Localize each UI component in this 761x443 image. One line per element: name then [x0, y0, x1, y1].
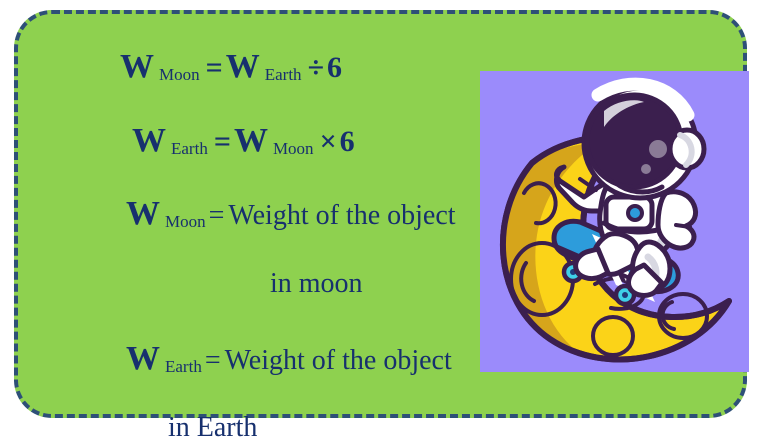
earth-definition-subscript: Earth [160, 357, 205, 376]
figure-canvas: WMoon=WEarth÷6 WEarth=WMoon×6 WMoon= Wei… [0, 0, 761, 435]
earth-formula: WEarth=WMoon×6 [132, 124, 355, 158]
moon-formula-rhs-symbol: W [226, 48, 260, 85]
astronaut-moon-svg [480, 71, 749, 372]
moon-definition-text-line2: in moon [270, 268, 363, 299]
moon-formula-subscript: Moon [154, 65, 203, 84]
astronaut-right-glove-line [676, 225, 690, 227]
earth-definition-text: Weight of the object [225, 345, 452, 376]
visor-highlight-dot-large [649, 140, 667, 158]
helmet-visor [587, 95, 681, 187]
earth-definition-symbol: W [126, 340, 160, 377]
earth-definition-continuation: in Earth [168, 414, 257, 442]
moon-formula-rhs-subscript: Earth [260, 65, 305, 84]
formula-text-column: WMoon=WEarth÷6 WEarth=WMoon×6 WMoon= Wei… [88, 42, 473, 427]
moon-definition-continuation: in moon [270, 270, 363, 298]
earth-formula-subscript: Earth [166, 139, 211, 158]
earth-definition-equals: = [205, 345, 221, 376]
earth-definition: WEarth= Weight of the object [126, 342, 452, 376]
moon-definition-text: Weight of the object [228, 200, 455, 231]
moon-definition-equals: = [209, 200, 225, 231]
earth-formula-symbol: W [132, 122, 166, 159]
earth-formula-operator: × [317, 125, 340, 158]
moon-formula-symbol: W [120, 48, 154, 85]
moon-formula-operand: 6 [327, 51, 342, 84]
astronaut-chest-panel [606, 197, 652, 229]
moon-definition-subscript: Moon [160, 212, 209, 231]
wheel-back-hub [622, 292, 628, 298]
earth-formula-rhs-symbol: W [234, 122, 268, 159]
visor-highlight-dot-small [641, 164, 651, 174]
chest-panel-button [628, 206, 642, 220]
moon-formula-operator: ÷ [305, 51, 327, 84]
moon-formula: WMoon=WEarth÷6 [120, 50, 342, 84]
earth-formula-rhs-subscript: Moon [268, 139, 317, 158]
astronaut-right-arm [658, 192, 696, 248]
earth-formula-operand: 6 [340, 125, 355, 158]
moon-definition-symbol: W [126, 195, 160, 232]
moon-formula-equals: = [203, 51, 226, 84]
earth-definition-text-line2: in Earth [168, 412, 257, 443]
astronaut-moon-illustration [480, 71, 749, 372]
moon-definition: WMoon= Weight of the object [126, 197, 456, 231]
formula-card: WMoon=WEarth÷6 WEarth=WMoon×6 WMoon= Wei… [14, 10, 747, 418]
earth-formula-equals: = [211, 125, 234, 158]
